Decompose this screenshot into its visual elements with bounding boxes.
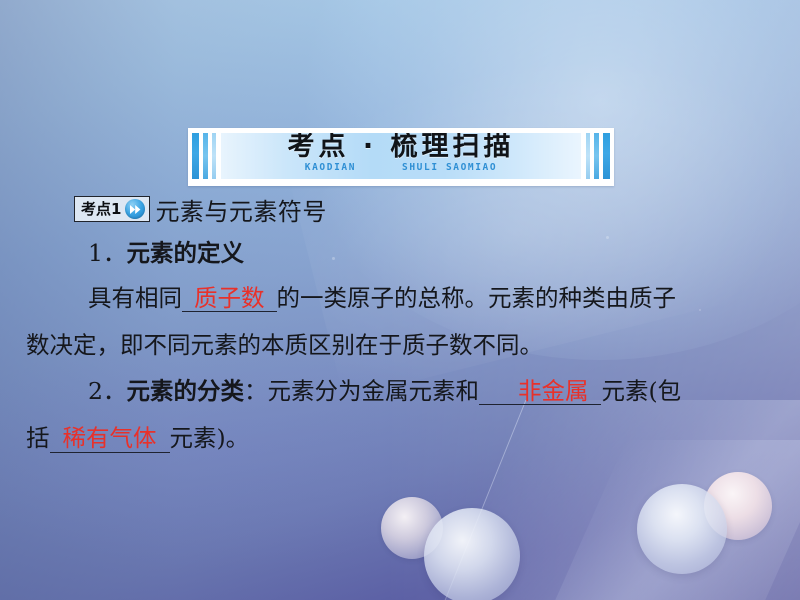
line-3-blank-trail (591, 381, 601, 406)
line-1-answer-blank: 质子数 (192, 287, 267, 313)
banner-panel: 考点 · 梳理扫描 KAODIAN SHULI SAOMIAO (221, 133, 581, 179)
topic-badge-label: 考点1 (81, 202, 121, 217)
banner-accent-bar-right-thin (586, 133, 590, 179)
banner-pinyin-left: KAODIAN (305, 162, 356, 173)
line-1-blank-trail (267, 288, 277, 313)
banner-accent-bar-left-mid (203, 133, 208, 179)
slide-content: 考点1 元素与元素符号 1．元素的定义 具有相同质子数的一类原子的总称。元素的种… (0, 192, 800, 453)
section-1-number: 1． (88, 239, 126, 267)
section-1-body-line-1: 具有相同质子数的一类原子的总称。元素的种类由质子 (0, 287, 800, 313)
line-1-text-before: 具有相同 (88, 284, 182, 312)
topic-heading-row: 考点1 元素与元素符号 (0, 192, 800, 226)
decorative-sphere-large-left (424, 508, 520, 600)
line-4-text-before: 括 (26, 424, 50, 452)
section-1-body-line-2: 数决定，即不同元素的本质区别在于质子数不同。 (0, 334, 800, 358)
line-1-text-after: 的一类原子的总称。元素的种类由质子 (277, 284, 677, 312)
line-1-blank-lead (182, 288, 192, 313)
line-3-answer-blank: 非金属 (515, 380, 592, 406)
slide-canvas: 考点 · 梳理扫描 KAODIAN SHULI SAOMIAO 考点1 (0, 0, 800, 600)
line-3-blank-lead (479, 381, 515, 406)
decorative-sphere-large-right (637, 484, 727, 574)
banner-accent-bar-right-thick (603, 133, 610, 179)
line-4-blank-lead (50, 428, 60, 453)
section-title-banner: 考点 · 梳理扫描 KAODIAN SHULI SAOMIAO (188, 128, 614, 186)
line-4-text-after: 元素)。 (170, 424, 250, 452)
section-1-heading: 1．元素的定义 (0, 242, 800, 266)
section-2-title: 元素的分类 (126, 377, 244, 405)
section-2-body-line-1: 2．元素的分类：元素分为金属元素和非金属元素(包 (0, 380, 800, 406)
banner-title-chinese: 考点 · 梳理扫描 (287, 133, 514, 164)
banner-accent-bar-left-thick (192, 133, 199, 179)
topic-heading-title: 元素与元素符号 (155, 192, 327, 227)
banner-accent-bar-left-thin (212, 133, 216, 179)
banner-pinyin-right: SHULI SAOMIAO (402, 162, 497, 173)
topic-badge: 考点1 (74, 196, 150, 222)
section-1-title: 元素的定义 (126, 239, 244, 267)
line-4-answer-blank: 稀有气体 (60, 427, 160, 453)
banner-accent-bar-right-mid (594, 133, 599, 179)
line-3-text-after: 元素(包 (601, 377, 681, 405)
line-4-blank-trail (160, 428, 170, 453)
line-3-text-before: ：元素分为金属元素和 (244, 377, 479, 405)
section-2-number: 2． (88, 377, 126, 405)
fast-forward-icon (125, 199, 145, 219)
section-2-body-line-2: 括稀有气体元素)。 (0, 427, 800, 453)
line-2-text: 数决定，即不同元素的本质区别在于质子数不同。 (26, 331, 543, 359)
